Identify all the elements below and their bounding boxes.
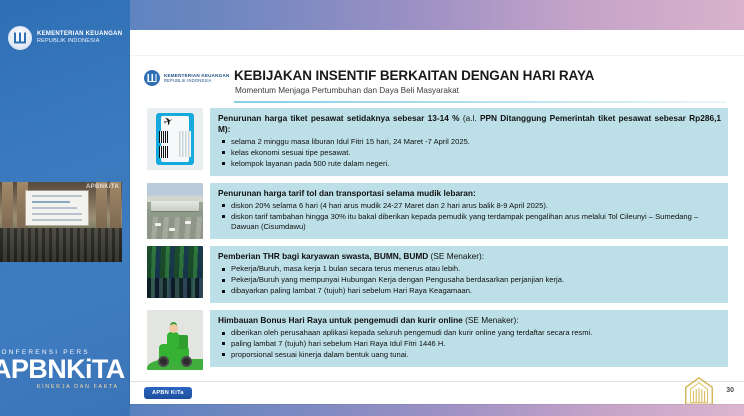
list-item: diskon tarif tambahan hingga 30% itu bak… — [218, 212, 721, 233]
page-subtitle: Momentum Menjaga Pertumbuhan dan Daya Be… — [235, 86, 459, 95]
slide-ministry-seal-icon — [144, 70, 160, 86]
apbn-kicker: KONFERENSI PERS — [0, 349, 125, 356]
title-divider — [234, 101, 726, 103]
presentation-stage: KEMENTERIAN KEUANGAN REPUBLIK INDONESIA … — [0, 0, 744, 416]
apbn-tagline: KINERJA DAN FAKTA — [0, 384, 119, 390]
list-item: paling lambat 7 (tujuh) hari sebelum Har… — [218, 339, 721, 349]
audience-seating — [0, 228, 122, 262]
policy-box-airfare: Penurunan harga tiket pesawat setidaknya… — [210, 108, 728, 176]
page-number: 30 — [726, 387, 734, 394]
ministry-seal-icon — [8, 26, 32, 50]
slide-ministry-line2: REPUBLIK INDONESIA — [164, 78, 230, 83]
list-item: Penurunan harga tarif tol dan transporta… — [130, 183, 744, 239]
policy-bullets: diberikan oleh perusahaan aplikasi kepad… — [218, 328, 721, 360]
policy-bullets: Pekerja/Buruh, masa kerja 1 bulan secara… — [218, 264, 721, 296]
list-item: Himbauan Bonus Hari Raya untuk pengemudi… — [130, 310, 744, 370]
slide-header: KEMENTERIAN KEUANGAN REPUBLIK INDONESIA … — [130, 56, 744, 104]
apbn-watermark: APBNKiTA — [86, 184, 119, 190]
policy-heading: Penurunan harga tiket pesawat setidaknya… — [218, 113, 721, 135]
policy-box-courier-bonus: Himbauan Bonus Hari Raya untuk pengemudi… — [210, 310, 728, 367]
policy-bullets: diskon 20% selama 6 hari (4 hari arus mu… — [218, 201, 721, 233]
slide-ministry-logo: KEMENTERIAN KEUANGAN REPUBLIK INDONESIA — [144, 70, 230, 86]
list-item: Pekerja/Buruh, masa kerja 1 bulan secara… — [218, 264, 721, 274]
slide-surface: KEMENTERIAN KEUANGAN REPUBLIK INDONESIA … — [130, 56, 744, 404]
ministry-name-line1: KEMENTERIAN KEUANGAN — [37, 31, 122, 38]
slide-footer: APBN KiTa 30 — [130, 380, 744, 404]
policy-heading: Pemberian THR bagi karyawan swasta, BUMN… — [218, 251, 721, 262]
list-item: diskon 20% selama 6 hari (4 hari arus mu… — [218, 201, 721, 211]
online-courier-image — [147, 310, 203, 370]
ministry-logo-text: KEMENTERIAN KEUANGAN REPUBLIK INDONESIA — [37, 31, 122, 45]
apbn-wordmark: APBNKiTA — [0, 356, 125, 384]
ministry-name-line2: REPUBLIK INDONESIA — [37, 38, 122, 45]
projection-screen — [26, 191, 88, 225]
list-item: proporsional sesuai kinerja dalam bentuk… — [218, 350, 721, 360]
list-item: ✈ Penurunan harga tiket pesawat setidakn… — [130, 108, 744, 176]
airplane-ticket-image: ✈ — [147, 108, 203, 170]
page-title: KEBIJAKAN INSENTIF BERKAITAN DENGAN HARI… — [234, 68, 594, 83]
press-conference-room-photo: APBNKiTA — [0, 182, 122, 262]
policy-heading: Penurunan harga tarif tol dan transporta… — [218, 188, 721, 199]
list-item: selama 2 minggu masa liburan Idul Fitri … — [218, 137, 721, 147]
list-item: Pemberian THR bagi karyawan swasta, BUMN… — [130, 246, 744, 303]
list-item: diberikan oleh perusahaan aplikasi kepad… — [218, 328, 721, 338]
policy-bullets: selama 2 minggu masa liburan Idul Fitri … — [218, 137, 721, 169]
ministry-logo-lockup: KEMENTERIAN KEUANGAN REPUBLIK INDONESIA — [8, 26, 122, 50]
workers-crowd-image — [147, 246, 203, 298]
policy-sections-list: ✈ Penurunan harga tiket pesawat setidakn… — [130, 108, 744, 377]
toll-gate-image — [147, 183, 203, 239]
list-item: dibayarkan paling lambat 7 (tujuh) hari … — [218, 286, 721, 296]
list-item: Pekerja/Buruh yang mempunyai Hubungan Ke… — [218, 275, 721, 285]
policy-heading: Himbauan Bonus Hari Raya untuk pengemudi… — [218, 315, 721, 326]
garuda-emblem-icon — [680, 376, 718, 404]
list-item: kelompok layanan pada 500 rute dalam neg… — [218, 159, 721, 169]
list-item: kelas ekonomi sesuai tipe pesawat. — [218, 148, 721, 158]
left-broadcast-panel: KEMENTERIAN KEUANGAN REPUBLIK INDONESIA … — [0, 0, 130, 416]
policy-box-thr: Pemberian THR bagi karyawan swasta, BUMN… — [210, 246, 728, 303]
apbn-kita-lockup: KONFERENSI PERS APBNKiTA KINERJA DAN FAK… — [0, 349, 125, 390]
apbn-kita-badge: APBN KiTa — [144, 387, 192, 399]
policy-box-toll: Penurunan harga tarif tol dan transporta… — [210, 183, 728, 239]
